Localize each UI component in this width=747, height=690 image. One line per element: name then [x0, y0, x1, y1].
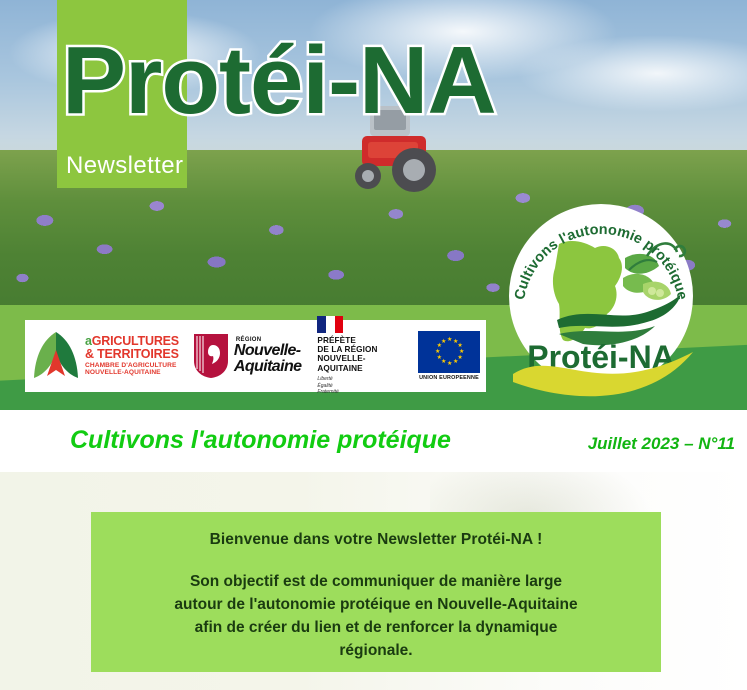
chambre-agriculture-wordmark: aGRICULTURES & TERRITOIRES CHAMBRE D'AGR… [85, 335, 179, 377]
ca-line4: NOUVELLE-AQUITAINE [85, 370, 179, 377]
partner-logo-prefete-region[interactable]: PRÉFÈTE DE LA RÉGION NOUVELLE-AQUITAINE … [301, 320, 402, 392]
region-wordmark: RÉGION Nouvelle- Aquitaine [234, 337, 302, 375]
prefete-line3: NOUVELLE-AQUITAINE [317, 354, 402, 372]
chambre-agriculture-mark-icon [31, 330, 81, 382]
prefete-line2: DE LA RÉGION [317, 345, 402, 354]
prefete-motto-3: Fraternité [317, 389, 402, 396]
eu-star-icon: ★ [447, 338, 451, 342]
eu-star-icon: ★ [435, 350, 439, 354]
welcome-body: Son objectif est de communiquer de maniè… [111, 571, 641, 663]
tagline-text: Cultivons l'autonomie protéique [70, 426, 451, 455]
welcome-message-box: Bienvenue dans votre Newsletter Protéi-N… [91, 512, 661, 672]
page-title: Protéi-NA [62, 33, 496, 129]
tagline-bar: Cultivons l'autonomie protéique Juillet … [0, 410, 747, 472]
prefete-motto-1: Liberté [317, 376, 402, 383]
region-shield-lion-icon [193, 333, 229, 379]
masthead-subtitle: Newsletter [66, 152, 183, 180]
french-flag-icon [317, 316, 343, 333]
eu-star-icon: ★ [453, 340, 457, 344]
eu-star-icon: ★ [441, 340, 445, 344]
eu-star-icon: ★ [437, 356, 441, 360]
prefete-line1: PRÉFÈTE [317, 336, 402, 345]
welcome-line-2: autour de l'autonomie protéique en Nouve… [111, 594, 641, 617]
prefete-motto-2: Égalité [317, 383, 402, 390]
welcome-line-3: afin de créer du lien et de renforcer la… [111, 617, 641, 640]
partner-logos-strip: aGRICULTURES & TERRITOIRES CHAMBRE D'AGR… [25, 320, 486, 392]
partner-logo-region-nouvelle-aquitaine[interactable]: RÉGION Nouvelle- Aquitaine [179, 320, 302, 392]
welcome-line-4: régionale. [111, 640, 641, 663]
eu-flag-icon: ★★★★★★★★★★★★ [418, 331, 480, 373]
protei-na-circular-logo[interactable]: Cultivons l'autonomie protéique Protéi-N… [497, 196, 705, 404]
eu-star-icon: ★ [459, 350, 463, 354]
partner-logo-chambre-agriculture[interactable]: aGRICULTURES & TERRITOIRES CHAMBRE D'AGR… [31, 320, 179, 392]
welcome-title: Bienvenue dans votre Newsletter Protéi-N… [210, 531, 543, 549]
eu-star-icon: ★ [457, 344, 461, 348]
ca-letter-a: a [85, 334, 92, 348]
ca-line1: GRICULTURES [92, 334, 179, 348]
region-line1: Nouvelle- [234, 343, 302, 359]
ca-line2: & TERRITOIRES [85, 348, 179, 361]
eu-caption: UNION EUROPEENNE [418, 375, 480, 381]
eu-star-icon: ★ [447, 362, 451, 366]
eu-star-icon: ★ [437, 344, 441, 348]
newsletter-page: Protéi-NA Newsletter aGRICULTURES & TERR… [0, 0, 747, 690]
region-line2: Aquitaine [234, 359, 302, 375]
partner-logo-union-europeenne[interactable]: ★★★★★★★★★★★★ UNION EUROPEENNE [402, 320, 480, 392]
issue-label: Juillet 2023 – N°11 [588, 434, 735, 454]
welcome-line-1: Son objectif est de communiquer de maniè… [111, 571, 641, 594]
eu-star-icon: ★ [453, 360, 457, 364]
